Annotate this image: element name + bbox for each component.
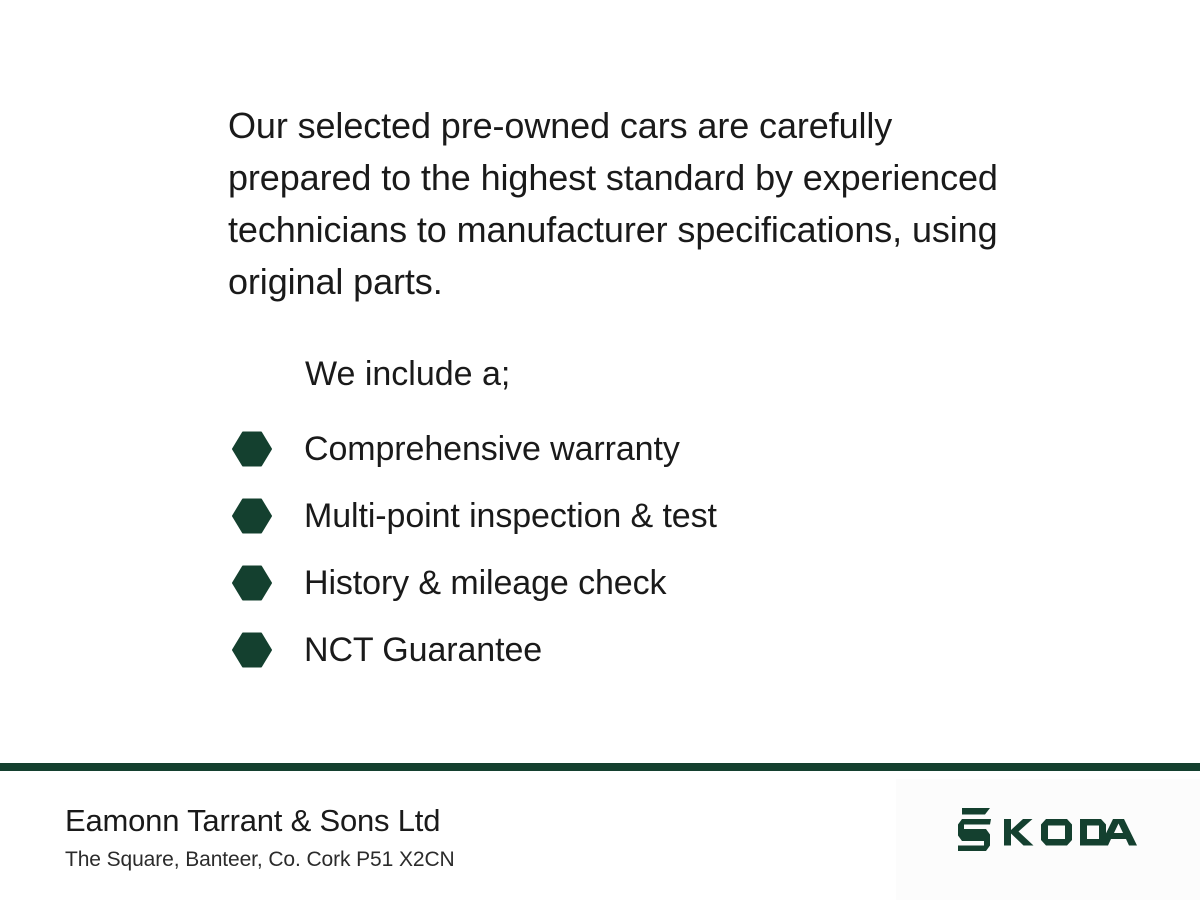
list-item-label: Multi-point inspection & test (304, 496, 717, 536)
list-item-label: NCT Guarantee (304, 630, 542, 670)
include-lead-text: We include a; (305, 352, 510, 396)
promotional-panel: Our selected pre-owned cars are carefull… (0, 0, 1200, 900)
hexagon-bullet-icon (232, 632, 272, 668)
dealer-address: The Square, Banteer, Co. Cork P51 X2CN (65, 847, 765, 873)
list-item: History & mileage check (232, 549, 1052, 616)
dealer-name: Eamonn Tarrant & Sons Ltd (65, 803, 765, 839)
list-item: Multi-point inspection & test (232, 482, 1052, 549)
list-item-label: Comprehensive warranty (304, 429, 680, 469)
footer-divider (0, 763, 1200, 771)
list-item-label: History & mileage check (304, 563, 666, 603)
dealer-details: Eamonn Tarrant & Sons Ltd The Square, Ba… (65, 803, 765, 873)
headline-paragraph: Our selected pre-owned cars are carefull… (228, 100, 1018, 308)
footer: Eamonn Tarrant & Sons Ltd The Square, Ba… (0, 771, 1200, 900)
skoda-wordmark-logo (958, 806, 1138, 852)
hexagon-bullet-icon (232, 565, 272, 601)
benefits-list: Comprehensive warranty Multi-point inspe… (232, 415, 1052, 683)
list-item: NCT Guarantee (232, 616, 1052, 683)
hexagon-bullet-icon (232, 431, 272, 467)
main-content: Our selected pre-owned cars are carefull… (0, 0, 1200, 766)
hexagon-bullet-icon (232, 498, 272, 534)
list-item: Comprehensive warranty (232, 415, 1052, 482)
